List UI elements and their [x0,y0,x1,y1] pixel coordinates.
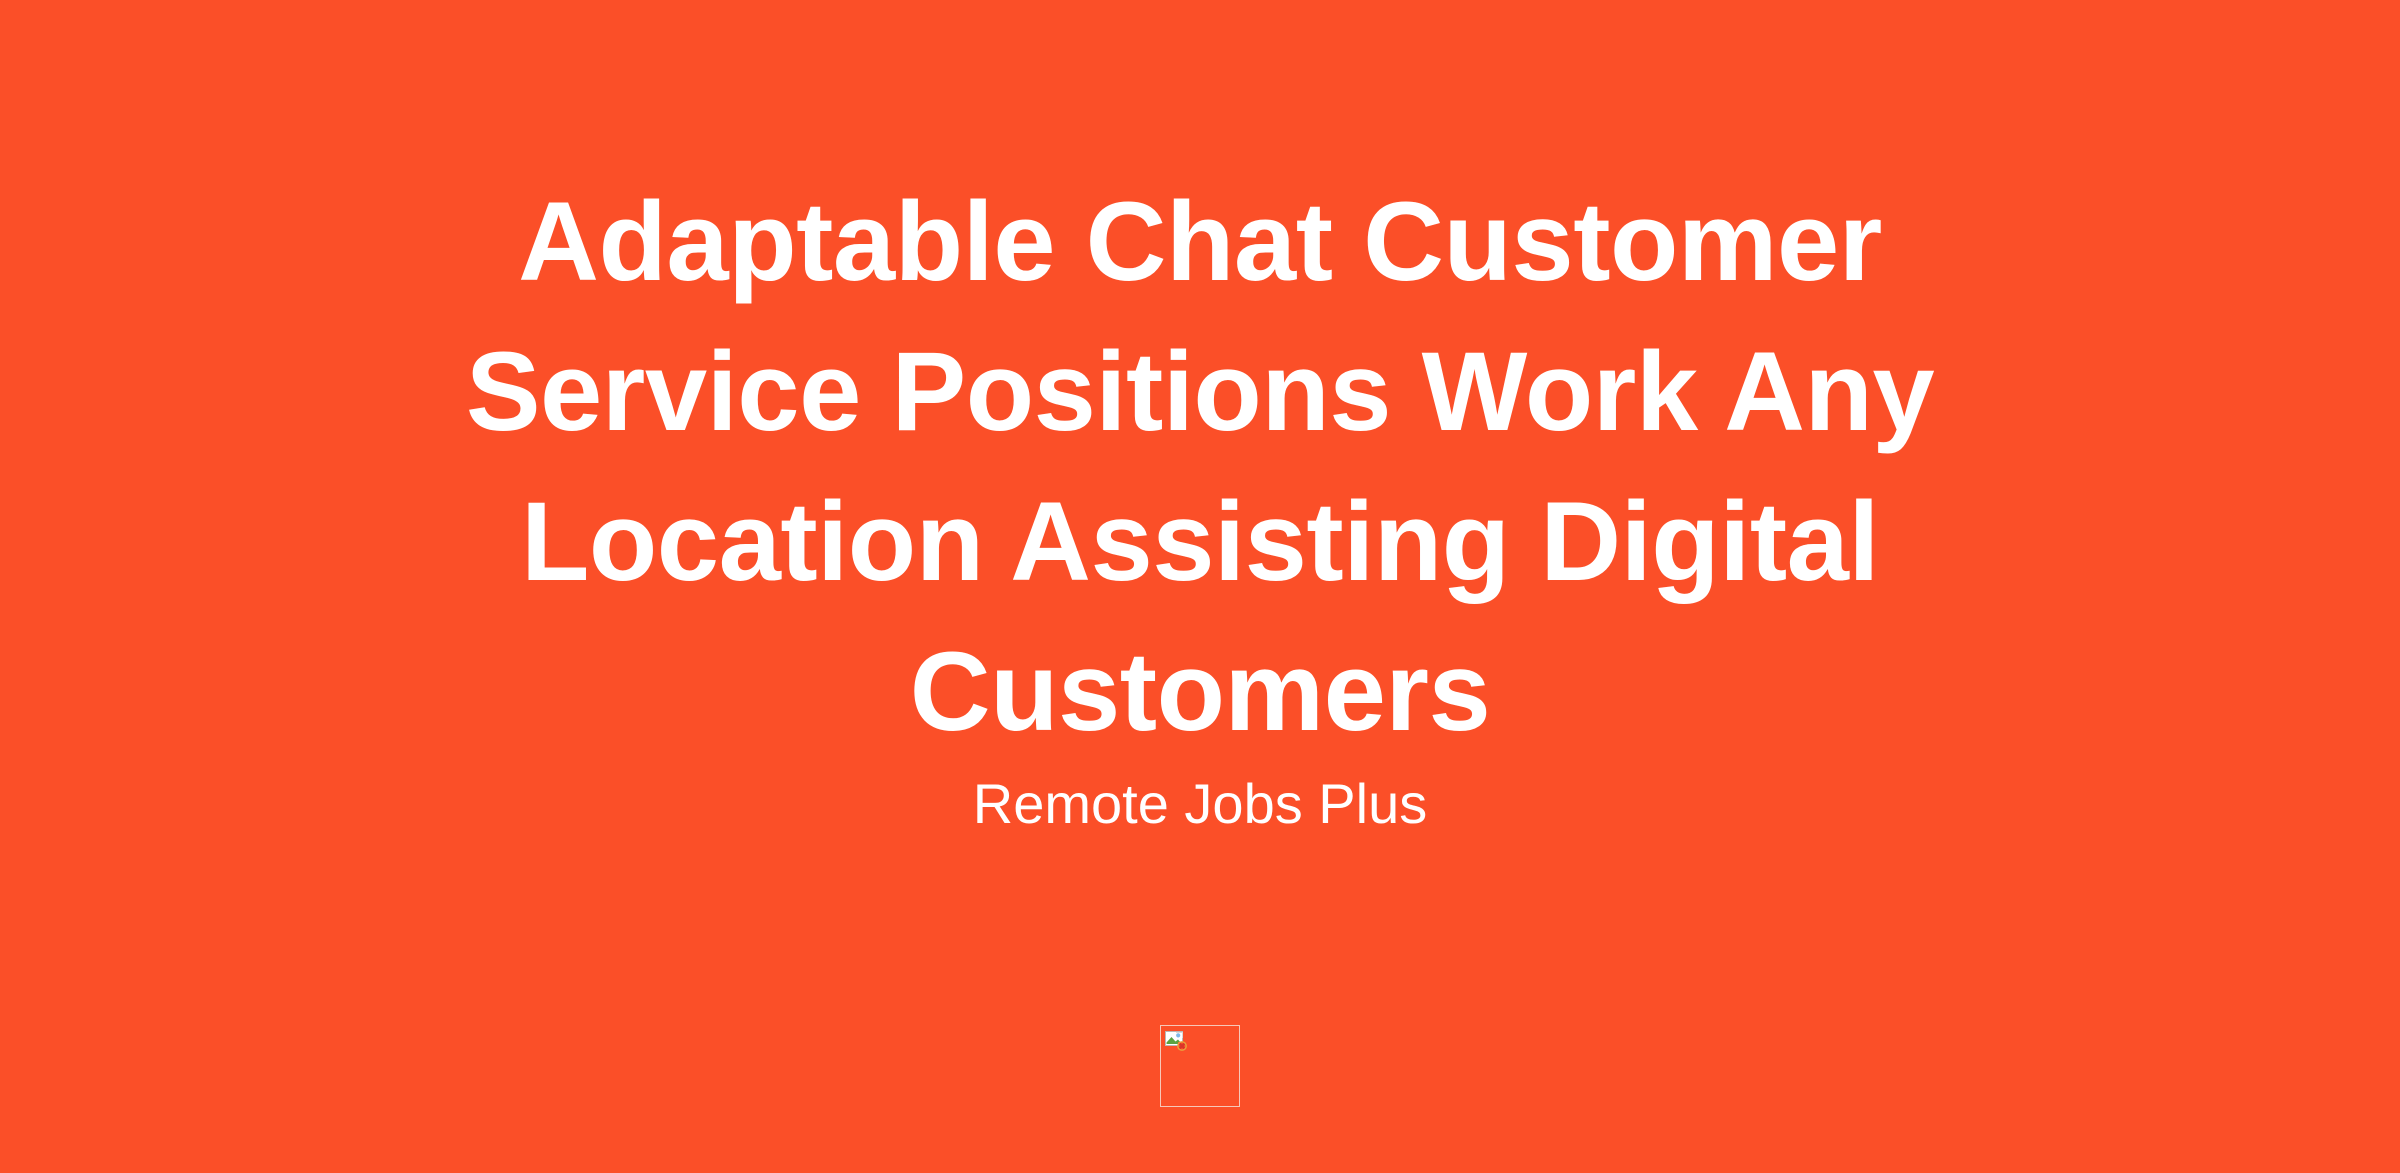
page-subtitle: Remote Jobs Plus [973,768,1427,840]
hero-image-slot [1160,1025,1240,1107]
broken-image-icon [1165,1030,1187,1052]
hero-banner: Adaptable Chat Customer Service Position… [0,0,2400,1173]
broken-image-placeholder [1160,1025,1240,1107]
page-title: Adaptable Chat Customer Service Position… [435,167,1965,767]
